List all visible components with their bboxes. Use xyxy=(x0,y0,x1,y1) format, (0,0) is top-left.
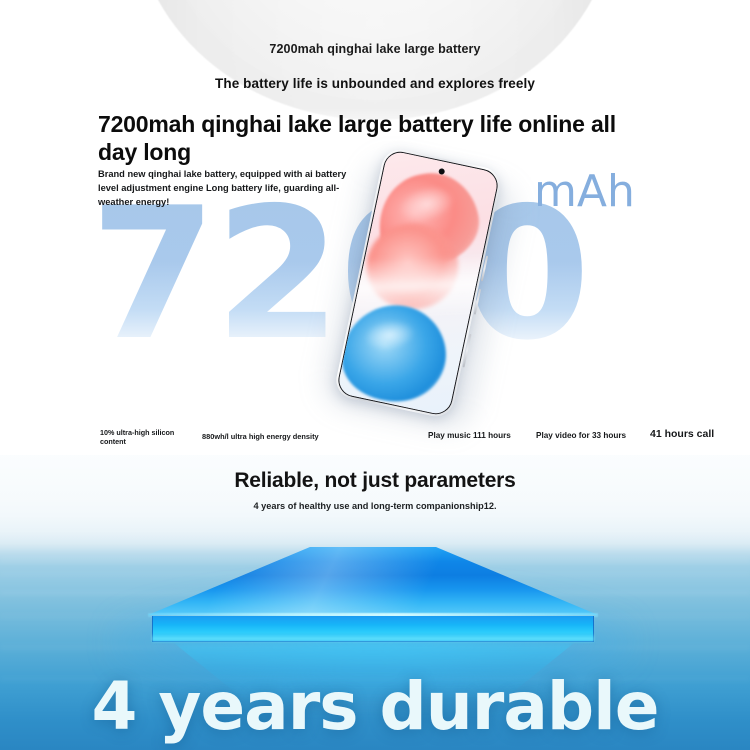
glass-slab-graphic xyxy=(148,547,598,667)
spec-strip: 10% ultra-high silicon content 880wh/l u… xyxy=(0,424,750,454)
hero-body-copy: Brand new qinghai lake battery, equipped… xyxy=(98,168,360,209)
eyebrow-line-1: 7200mah qinghai lake large battery xyxy=(0,42,750,56)
phone-product-image xyxy=(340,148,520,438)
slab-top-sheen xyxy=(148,547,598,615)
slab-side-highlight xyxy=(152,633,594,642)
capacity-unit-label: mAh xyxy=(534,166,635,217)
durability-subheading: 4 years of healthy use and long-term com… xyxy=(0,501,750,511)
durability-heading: Reliable, not just parameters xyxy=(0,469,750,493)
spec-item-call-time: 41 hours call xyxy=(650,428,750,442)
spec-item-energy-density: 880wh/l ultra high energy density xyxy=(202,432,372,442)
eyebrow-line-2: The battery life is unbounded and explor… xyxy=(0,76,750,91)
durability-big-headline: 4 years durable xyxy=(0,668,750,745)
spec-item-silicon: 10% ultra-high silicon content xyxy=(100,428,186,447)
battery-hero-section: 7200mah qinghai lake large battery The b… xyxy=(0,0,750,455)
